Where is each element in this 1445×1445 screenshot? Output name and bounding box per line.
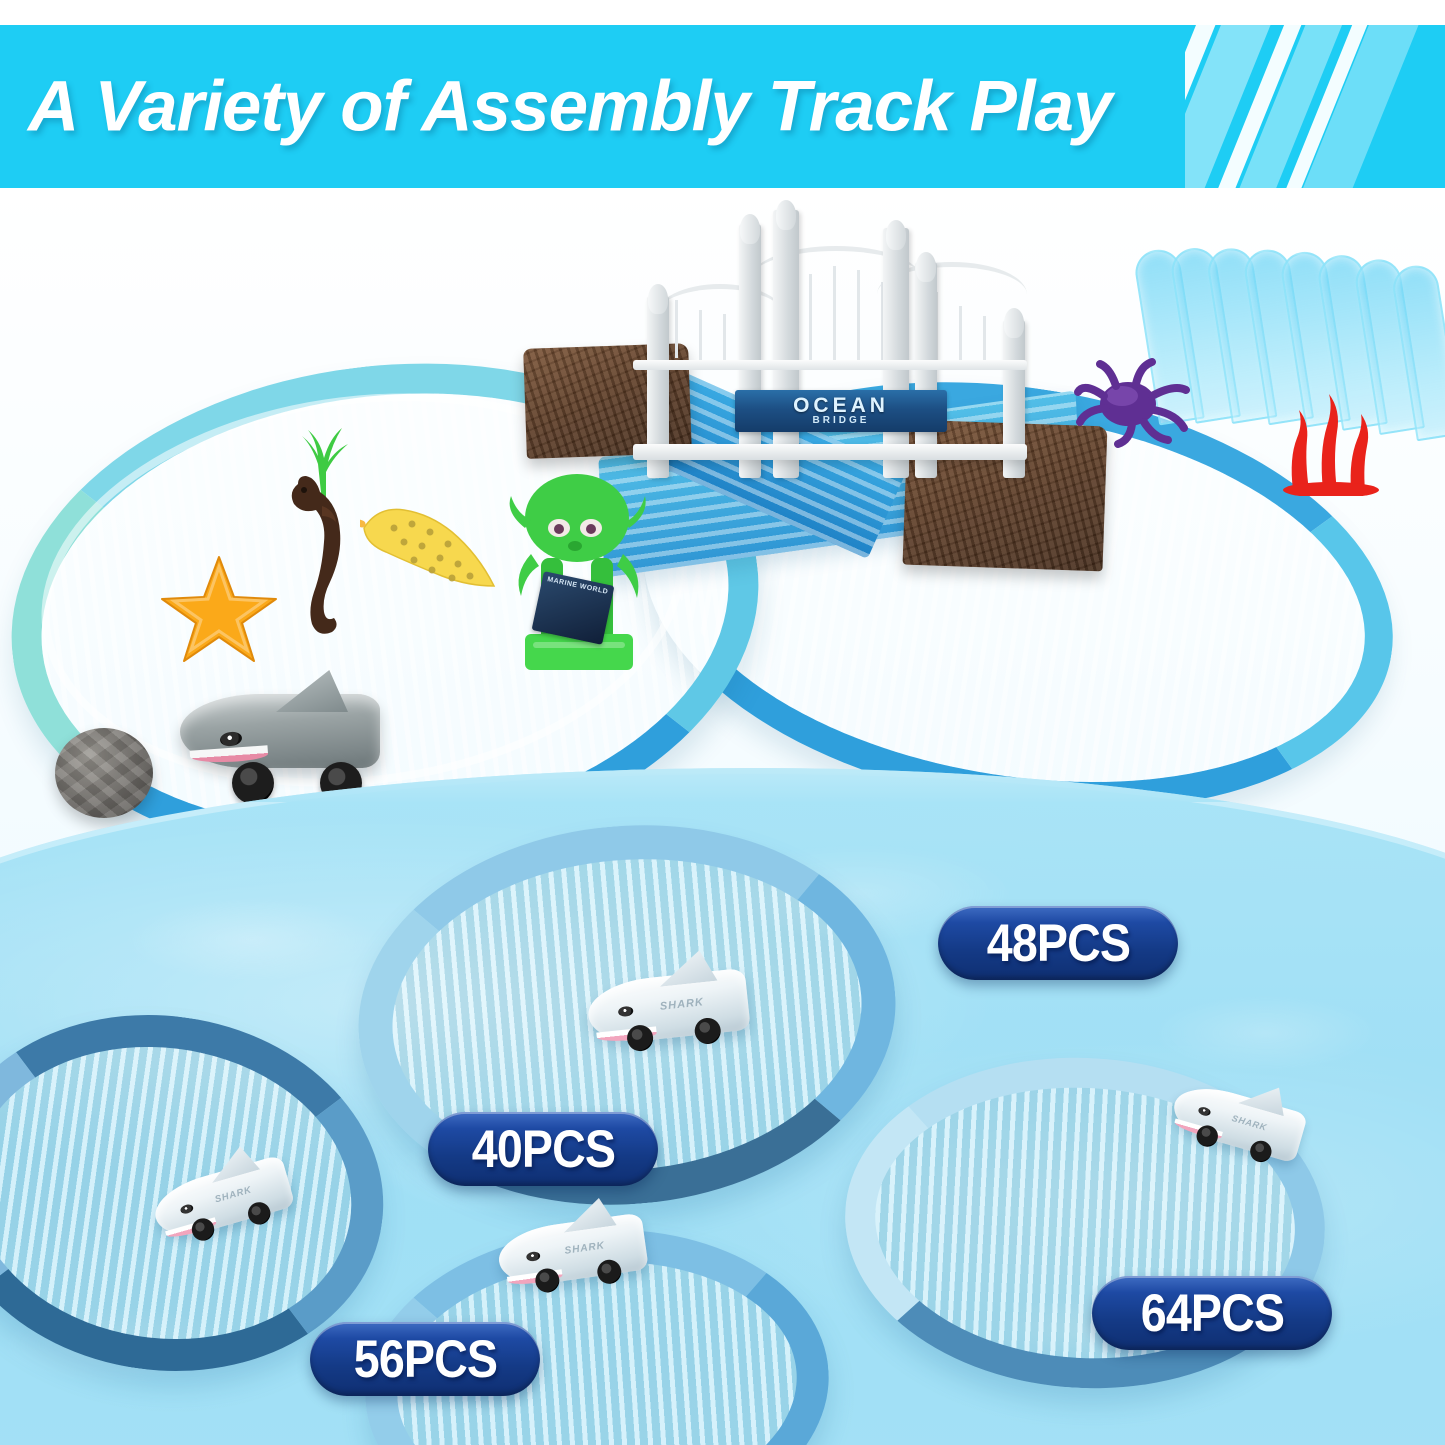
ocean-bridge: OCEAN BRIDGE: [615, 188, 1045, 518]
stingray-figure: [360, 490, 500, 610]
green-octopus-gate: MARINE WORLD: [495, 466, 655, 686]
product-infographic: A Variety of Assembly Track Play: [0, 0, 1445, 1445]
bridge-sign-secondary: BRIDGE: [813, 415, 870, 426]
bridge-pylon-4: [883, 228, 909, 478]
badge-40pcs: 40PCS: [428, 1112, 658, 1186]
purple-octopus-figure: [1070, 358, 1200, 448]
badge-48pcs: 48PCS: [938, 906, 1178, 980]
badge-56pcs-label: 56PCS: [353, 1329, 496, 1390]
badge-64pcs: 64PCS: [1092, 1276, 1332, 1350]
banner-title: A Variety of Assembly Track Play: [28, 66, 1112, 147]
banner-stripes-decoration: [1185, 25, 1445, 188]
seahorse-figure: [282, 466, 352, 656]
ocean-bridge-sign: OCEAN BRIDGE: [735, 390, 947, 432]
bridge-pylon-2: [739, 224, 761, 478]
starfish-figure: [160, 553, 278, 665]
bridge-sign-primary: OCEAN: [793, 396, 889, 415]
bridge-pylon-3: [773, 210, 799, 478]
badge-64pcs-label: 64PCS: [1140, 1283, 1283, 1344]
badge-40pcs-label: 40PCS: [471, 1119, 614, 1180]
badge-48pcs-label: 48PCS: [986, 913, 1129, 974]
header-banner: A Variety of Assembly Track Play: [0, 25, 1445, 188]
red-coral-figure: [1275, 386, 1385, 496]
badge-56pcs: 56PCS: [310, 1322, 540, 1396]
